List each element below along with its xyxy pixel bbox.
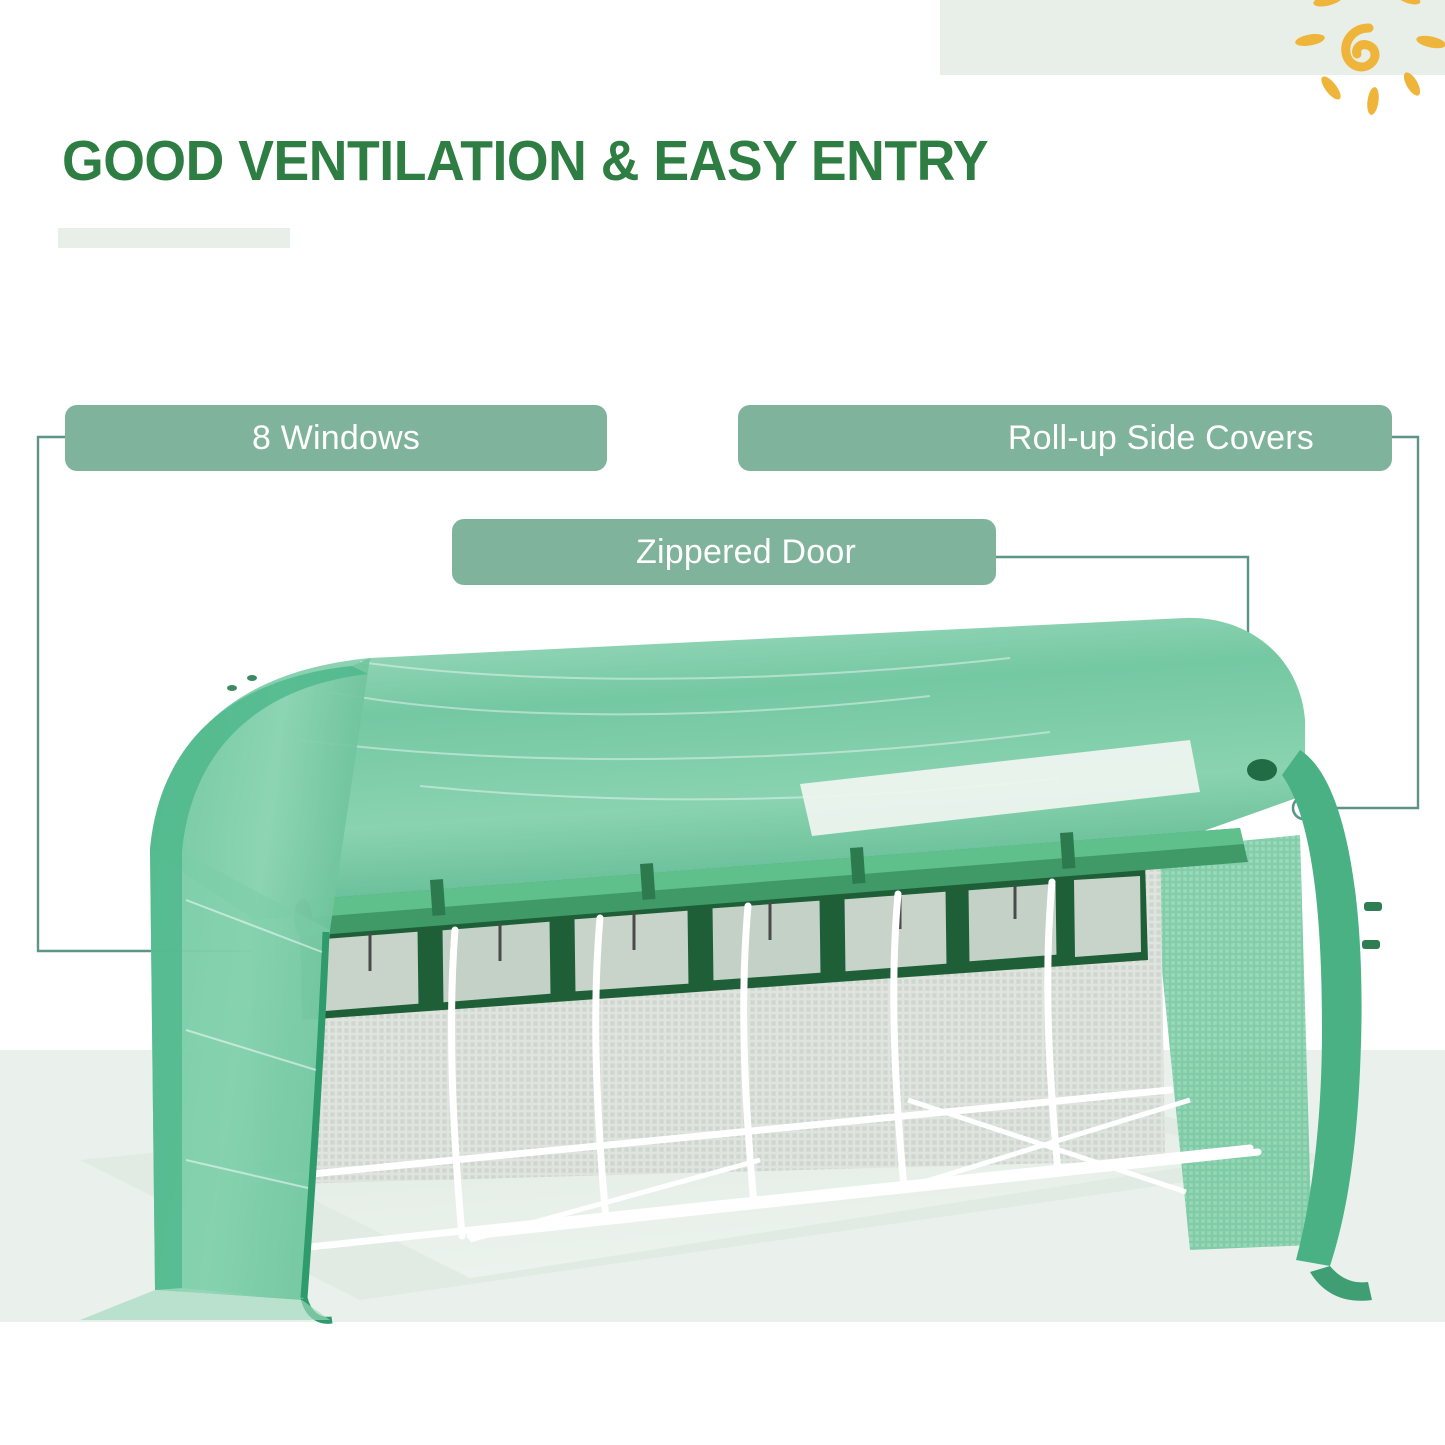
greenhouse-product-image xyxy=(0,600,1445,1340)
rear-arch-foot xyxy=(1310,1266,1372,1301)
callout-windows-label: 8 Windows xyxy=(252,419,420,458)
infographic-canvas: GOOD VENTILATION & EASY ENTRY 8 Windows … xyxy=(0,0,1445,1445)
rear-post-clips xyxy=(1362,902,1382,949)
callout-door-label: Zippered Door xyxy=(636,533,856,572)
callout-rollup[interactable]: Roll-up Side Covers xyxy=(738,405,1392,471)
callout-door[interactable]: Zippered Door xyxy=(452,519,996,585)
zippered-front-door xyxy=(182,852,332,1320)
title-underline-accent xyxy=(58,228,290,248)
sun-spiral-icon xyxy=(1288,0,1445,122)
roof-grommets xyxy=(227,675,257,691)
callout-windows[interactable]: 8 Windows xyxy=(65,405,607,471)
page-title: GOOD VENTILATION & EASY ENTRY xyxy=(62,128,988,194)
callout-rollup-label: Roll-up Side Covers xyxy=(1008,419,1314,458)
eave-tube-end-cap xyxy=(1247,759,1277,781)
